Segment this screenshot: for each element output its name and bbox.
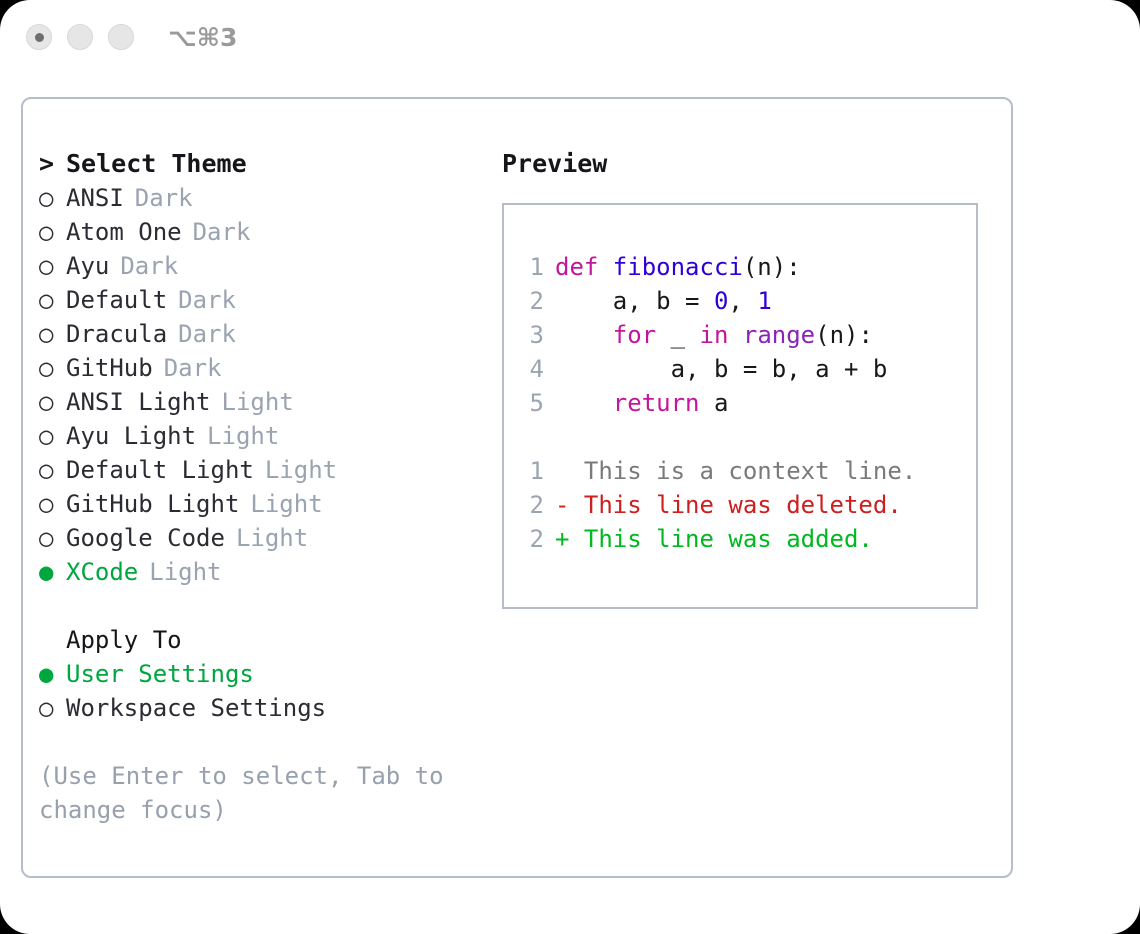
- theme-type-label: Dark: [135, 181, 193, 215]
- radio-unselected-icon[interactable]: ○: [39, 487, 66, 521]
- theme-type-label: Dark: [178, 283, 236, 317]
- theme-name-label: GitHub: [66, 351, 153, 385]
- radio-unselected-icon[interactable]: ○: [39, 317, 66, 351]
- line-number: 1: [518, 454, 544, 488]
- radio-unselected-icon[interactable]: ○: [39, 249, 66, 283]
- theme-type-label: Dark: [164, 351, 222, 385]
- code-token: a: [700, 389, 729, 417]
- code-sample: 1def fibonacci(n):2 a, b = 0, 13 for _ i…: [518, 250, 976, 420]
- radio-unselected-icon[interactable]: ○: [39, 215, 66, 249]
- line-number: 3: [518, 318, 544, 352]
- apply-to-list-item[interactable]: ○Workspace Settings: [39, 691, 479, 725]
- line-number: 2: [518, 522, 544, 556]
- theme-list-item[interactable]: ○DefaultDark: [39, 283, 479, 317]
- apply-to-heading: Apply To: [39, 623, 479, 657]
- theme-list-item[interactable]: ○Default LightLight: [39, 453, 479, 487]
- code-token: - This line was deleted.: [555, 491, 902, 519]
- code-line-content: This is a context line.: [555, 454, 916, 488]
- code-diff-separator: [518, 420, 976, 454]
- apply-to-label: Apply To: [66, 623, 182, 657]
- diff-line: 2- This line was deleted.: [518, 488, 976, 522]
- theme-type-label: Light: [149, 555, 221, 589]
- theme-type-label: Light: [265, 453, 337, 487]
- code-line-content: - This line was deleted.: [555, 488, 902, 522]
- code-token: (n):: [815, 321, 873, 349]
- theme-list-item[interactable]: ○GitHub LightLight: [39, 487, 479, 521]
- code-line: 1def fibonacci(n):: [518, 250, 976, 284]
- code-line: 4 a, b = b, a + b: [518, 352, 976, 386]
- theme-type-label: Light: [236, 521, 308, 555]
- keyboard-shortcut-label: ⌥⌘3: [168, 23, 237, 52]
- apply-to-label-text: Workspace Settings: [66, 691, 326, 725]
- theme-list: ○ANSIDark○Atom OneDark○AyuDark○DefaultDa…: [39, 181, 479, 589]
- theme-type-label: Light: [207, 419, 279, 453]
- radio-unselected-icon[interactable]: ○: [39, 521, 66, 555]
- theme-type-label: Dark: [193, 215, 251, 249]
- code-token: + This line was added.: [555, 525, 873, 553]
- diff-line: 2+ This line was added.: [518, 522, 976, 556]
- theme-type-label: Light: [250, 487, 322, 521]
- code-line-content: def fibonacci(n):: [555, 250, 801, 284]
- theme-name-label: Default: [66, 283, 167, 317]
- radio-selected-icon[interactable]: ●: [39, 555, 66, 589]
- line-number: 4: [518, 352, 544, 386]
- theme-name-label: XCode: [66, 555, 138, 589]
- radio-unselected-icon[interactable]: ○: [39, 453, 66, 487]
- radio-unselected-icon[interactable]: ○: [39, 351, 66, 385]
- prompt-caret-icon: >: [39, 147, 66, 181]
- theme-name-label: ANSI Light: [66, 385, 211, 419]
- code-token: 0: [714, 287, 728, 315]
- theme-list-item[interactable]: ○ANSIDark: [39, 181, 479, 215]
- theme-list-item[interactable]: ○Ayu LightLight: [39, 419, 479, 453]
- line-number: 2: [518, 284, 544, 318]
- radio-unselected-icon[interactable]: ○: [39, 385, 66, 419]
- code-token: [555, 321, 613, 349]
- line-number: 2: [518, 488, 544, 522]
- recording-dot-inner: [35, 33, 44, 42]
- theme-list-item[interactable]: ○Google CodeLight: [39, 521, 479, 555]
- diff-line: 1 This is a context line.: [518, 454, 976, 488]
- theme-name-label: Google Code: [66, 521, 225, 555]
- code-line: 3 for _ in range(n):: [518, 318, 976, 352]
- window-dot-2[interactable]: [67, 24, 93, 50]
- theme-name-label: Ayu Light: [66, 419, 196, 453]
- window-controls: [26, 24, 134, 50]
- code-line-content: + This line was added.: [555, 522, 873, 556]
- preview-panel: Preview 1def fibonacci(n):2 a, b = 0, 13…: [502, 147, 992, 609]
- code-line-content: for _ in range(n):: [555, 318, 873, 352]
- theme-name-label: Default Light: [66, 453, 254, 487]
- preview-title: Preview: [502, 147, 992, 181]
- theme-selection-panel: > Select Theme ○ANSIDark○Atom OneDark○Ay…: [39, 147, 479, 827]
- radio-unselected-icon[interactable]: ○: [39, 181, 66, 215]
- apply-to-label-text: User Settings: [66, 657, 254, 691]
- theme-name-label: Dracula: [66, 317, 167, 351]
- preview-box: 1def fibonacci(n):2 a, b = 0, 13 for _ i…: [502, 203, 978, 609]
- theme-list-item[interactable]: ○GitHubDark: [39, 351, 479, 385]
- app-window: ⌥⌘3 > Select Theme ○ANSIDark○Atom OneDar…: [0, 0, 1140, 934]
- theme-name-label: Ayu: [66, 249, 109, 283]
- radio-unselected-icon[interactable]: ○: [39, 283, 66, 317]
- code-token: This is a context line.: [555, 457, 916, 485]
- page-title: Select Theme: [66, 147, 247, 181]
- keyboard-hint-text: (Use Enter to select, Tab to change focu…: [39, 759, 444, 827]
- code-token: ,: [728, 287, 757, 315]
- apply-to-marker-spacer: [39, 623, 66, 657]
- theme-list-item[interactable]: ○ANSI LightLight: [39, 385, 479, 419]
- code-line-content: a, b = 0, 1: [555, 284, 772, 318]
- theme-list-item[interactable]: ○AyuDark: [39, 249, 479, 283]
- code-line: 2 a, b = 0, 1: [518, 284, 976, 318]
- code-line-content: a, b = b, a + b: [555, 352, 887, 386]
- theme-name-label: GitHub Light: [66, 487, 239, 521]
- radio-unselected-icon[interactable]: ○: [39, 691, 66, 725]
- code-token: in: [700, 321, 729, 349]
- code-token: [728, 321, 742, 349]
- code-token: _: [656, 321, 699, 349]
- theme-type-label: Dark: [120, 249, 178, 283]
- code-token: return: [613, 389, 700, 417]
- radio-selected-icon[interactable]: ●: [39, 657, 66, 691]
- apply-to-list: ●User Settings○Workspace Settings: [39, 657, 479, 725]
- code-token: for: [613, 321, 656, 349]
- code-token: 1: [757, 287, 771, 315]
- recording-indicator-dot[interactable]: [26, 24, 52, 50]
- theme-type-label: Dark: [178, 317, 236, 351]
- theme-list-item[interactable]: ●XCodeLight: [39, 555, 479, 589]
- theme-name-label: ANSI: [66, 181, 124, 215]
- line-number: 1: [518, 250, 544, 284]
- window-dot-3[interactable]: [108, 24, 134, 50]
- radio-unselected-icon[interactable]: ○: [39, 419, 66, 453]
- code-token: [555, 389, 613, 417]
- theme-type-label: Light: [222, 385, 294, 419]
- theme-picker-dialog: > Select Theme ○ANSIDark○Atom OneDark○Ay…: [21, 97, 1013, 878]
- code-line-content: return a: [555, 386, 728, 420]
- code-token: a, b =: [555, 287, 714, 315]
- code-token: a, b = b, a + b: [555, 355, 887, 383]
- select-theme-heading: > Select Theme: [39, 147, 479, 181]
- list-spacer: [39, 589, 479, 623]
- title-bar: ⌥⌘3: [0, 0, 1140, 78]
- code-token: def: [555, 253, 613, 281]
- theme-list-item[interactable]: ○DraculaDark: [39, 317, 479, 351]
- diff-sample: 1 This is a context line.2- This line wa…: [518, 454, 976, 556]
- theme-name-label: Atom One: [66, 215, 182, 249]
- code-token: (n):: [743, 253, 801, 281]
- theme-list-item[interactable]: ○Atom OneDark: [39, 215, 479, 249]
- line-number: 5: [518, 386, 544, 420]
- code-token: fibonacci: [613, 253, 743, 281]
- code-token: range: [743, 321, 815, 349]
- apply-to-list-item[interactable]: ●User Settings: [39, 657, 479, 691]
- code-line: 5 return a: [518, 386, 976, 420]
